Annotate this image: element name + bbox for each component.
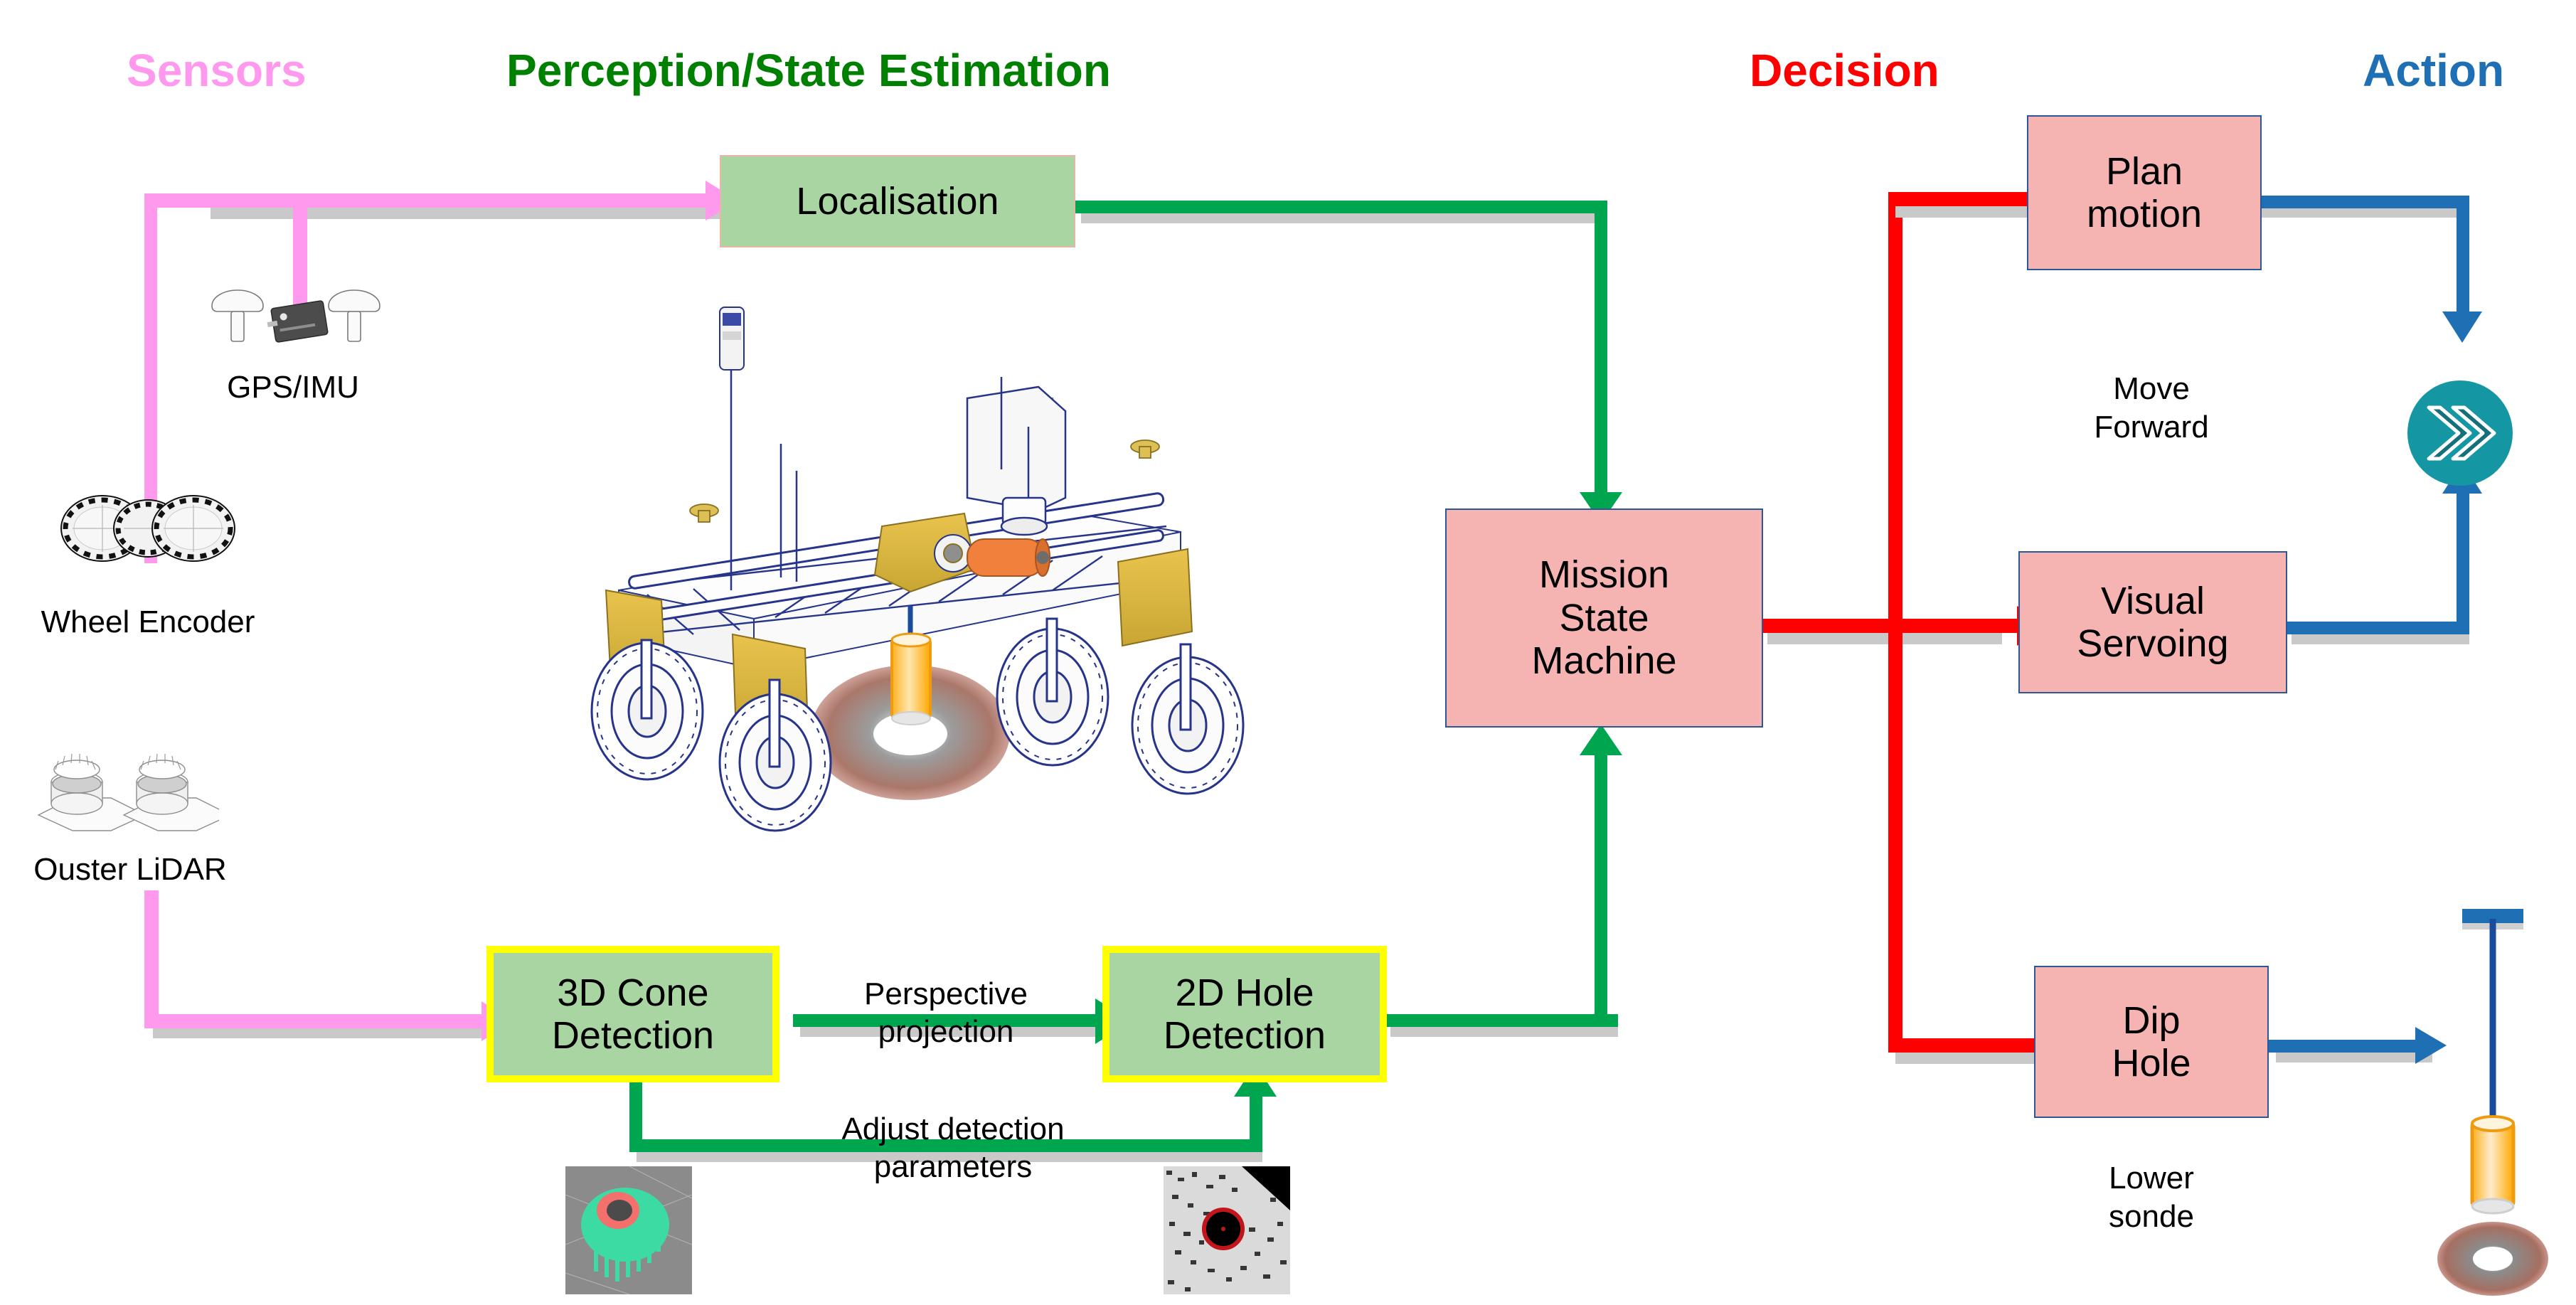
wheel-encoder-icon: [55, 491, 240, 566]
column-header-action: Action: [2363, 44, 2504, 97]
planmotion-to-badge-arrowhead: [2442, 311, 2482, 343]
localisation-to-msm-top-bar: [1074, 201, 1607, 213]
connector-shadow: [153, 1027, 494, 1038]
block-mission-state-machine[interactable]: Mission State Machine: [1445, 508, 1763, 728]
connector-shadow: [1895, 1053, 2048, 1064]
block-plan-motion[interactable]: Plan motion: [2027, 115, 2262, 270]
block-hole-detection[interactable]: 2D Hole Detection: [1102, 946, 1387, 1082]
sensor-label-gps-imu: GPS/IMU: [201, 370, 385, 405]
gps-antenna-icon: [208, 284, 385, 363]
rover-illustration: [541, 284, 1309, 853]
lidar-sensor-icon: [34, 741, 219, 832]
hole-to-msm-bar: [1383, 1014, 1618, 1027]
connector-shadow: [2262, 208, 2468, 218]
feedback-riser: [1250, 1095, 1262, 1152]
block-label: Localisation: [721, 180, 1074, 223]
block-label: 3D Cone Detection: [494, 971, 772, 1058]
visualservoing-to-badge-bar: [2284, 622, 2469, 634]
fast-forward-icon[interactable]: [2407, 380, 2513, 486]
block-label: Visual Servoing: [2020, 580, 2286, 666]
column-header-decision: Decision: [1750, 44, 1939, 97]
connector-shadow: [1390, 1027, 1618, 1037]
localisation-to-msm-drop: [1595, 201, 1607, 499]
pointcloud-cone-thumbnail: [565, 1166, 692, 1294]
range-image-hole-thumbnail: [1164, 1166, 1290, 1294]
decision-to-planmotion-bar: [1888, 192, 2045, 206]
sensor-to-localisation-bar: [144, 193, 715, 208]
edge-label-adjust-detection-parameters: Adjust detection parameters: [754, 1111, 1152, 1186]
connector-shadow: [1895, 206, 2038, 218]
hole-to-msm-riser: [1595, 745, 1607, 1016]
sonde-on-cable-icon: [2418, 903, 2567, 1301]
sensor-label-ouster-lidar: Ouster LiDAR: [13, 852, 248, 888]
decision-to-visualservoing-bar: [1888, 619, 2031, 633]
mast-camera-icon: [720, 307, 744, 370]
action-label-move-forward: Move Forward: [2048, 370, 2255, 446]
column-header-sensors: Sensors: [127, 44, 307, 97]
block-label: Dip Hole: [2035, 999, 2267, 1085]
edge-label-perspective-projection: Perspective projection: [797, 976, 1095, 1051]
imu-module-icon: [267, 301, 329, 343]
sensor-label-wheel-encoder: Wheel Encoder: [27, 604, 269, 640]
block-localisation[interactable]: Localisation: [720, 155, 1075, 247]
action-label-lower-sonde: Lower sonde: [2048, 1159, 2255, 1235]
block-label: 2D Hole Detection: [1109, 971, 1380, 1058]
block-cone-detection[interactable]: 3D Cone Detection: [486, 946, 779, 1082]
planmotion-to-badge-bar: [2256, 196, 2469, 208]
hole-to-msm-arrowhead: [1580, 724, 1622, 755]
connector-shadow: [211, 208, 730, 219]
block-visual-servoing[interactable]: Visual Servoing: [2018, 551, 2287, 693]
column-header-perception: Perception/State Estimation: [506, 44, 1111, 97]
diagram-canvas: Sensors Perception/State Estimation Deci…: [0, 0, 2576, 1304]
connector-shadow: [1767, 633, 2002, 644]
connector-shadow: [1081, 213, 1604, 223]
sensor-to-cone-bar: [144, 1014, 494, 1028]
block-label: Plan motion: [2028, 150, 2260, 236]
sensor-lidar-riser: [144, 890, 159, 1026]
planmotion-to-badge-drop: [2457, 196, 2469, 316]
connector-shadow: [2276, 1053, 2432, 1062]
visualservoing-to-badge-riser: [2457, 492, 2469, 627]
decision-to-diphole-bar: [1888, 1038, 2048, 1053]
connector-shadow: [2292, 634, 2469, 644]
block-label: Mission State Machine: [1447, 553, 1762, 682]
diphole-to-sonde-bar: [2269, 1040, 2425, 1053]
block-dip-hole[interactable]: Dip Hole: [2034, 966, 2269, 1118]
